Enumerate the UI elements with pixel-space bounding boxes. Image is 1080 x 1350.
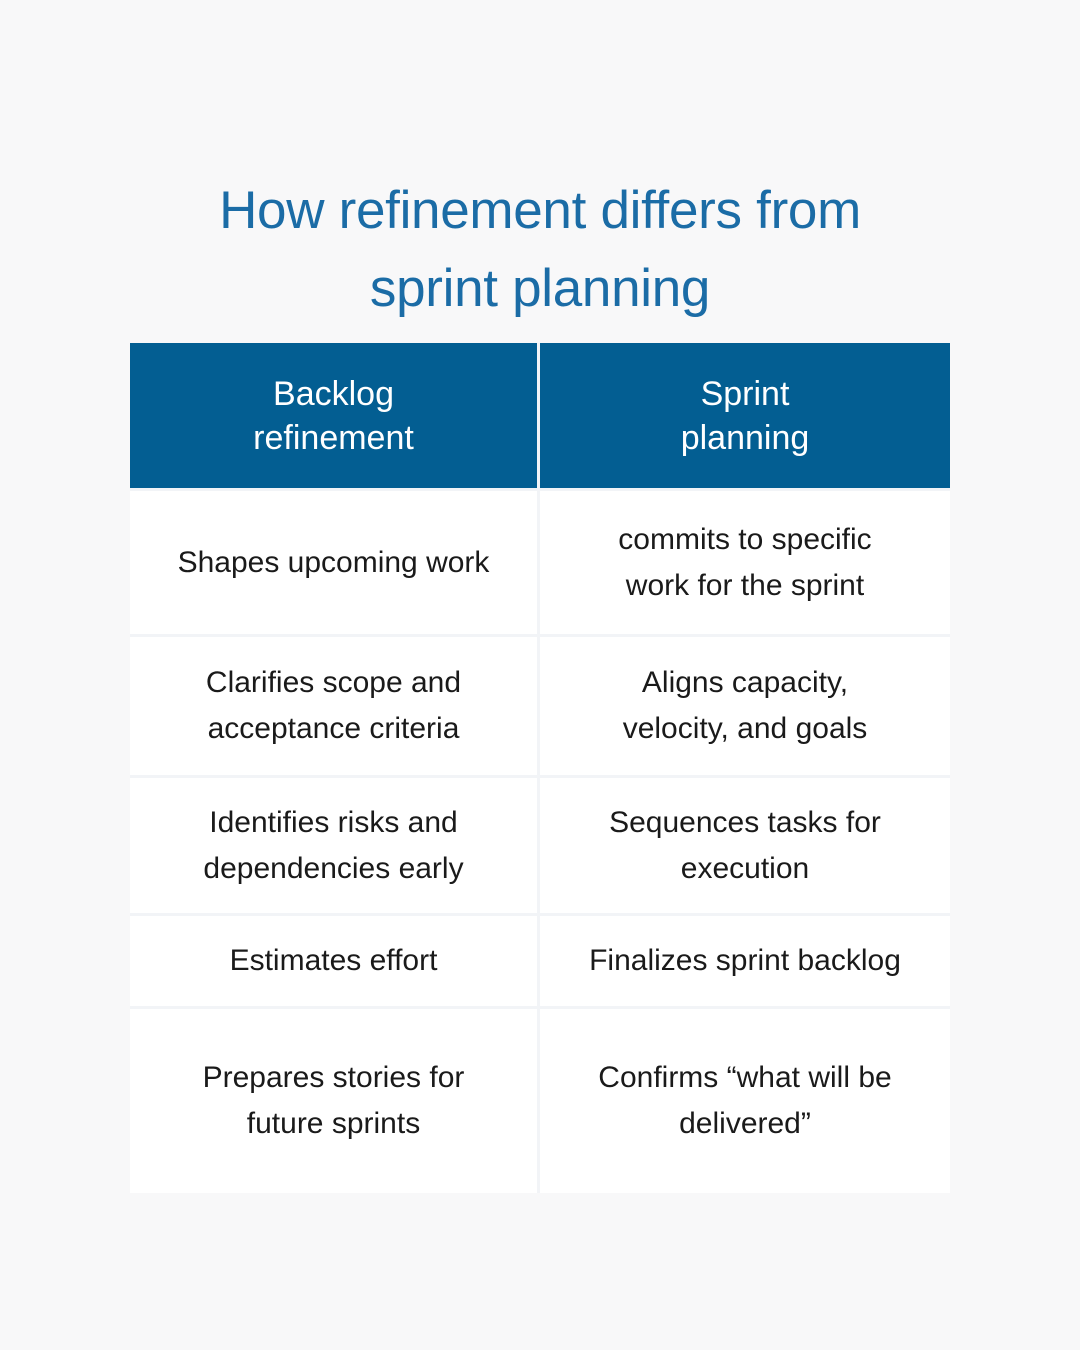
cell-backlog-refinement: Estimates effort xyxy=(130,913,540,1006)
cell-sprint-planning: Sequences tasks for execution xyxy=(540,775,950,913)
infographic-page: How refinement differs from sprint plann… xyxy=(0,0,1080,1350)
cell-sprint-planning: Confirms “what will be delivered” xyxy=(540,1006,950,1193)
comparison-table: Backlog refinement Sprint planning Shape… xyxy=(130,343,950,1193)
cell-backlog-refinement: Clarifies scope and acceptance criteria xyxy=(130,634,540,775)
table-row: Clarifies scope and acceptance criteria … xyxy=(130,634,950,775)
table-row: Prepares stories for future sprints Conf… xyxy=(130,1006,950,1193)
table-row: Identifies risks and dependencies early … xyxy=(130,775,950,913)
table-header: Backlog refinement Sprint planning xyxy=(130,343,950,488)
column-header-backlog-refinement: Backlog refinement xyxy=(130,343,540,488)
table-header-row: Backlog refinement Sprint planning xyxy=(130,343,950,488)
cell-backlog-refinement: Identifies risks and dependencies early xyxy=(130,775,540,913)
cell-sprint-planning: commits to specific work for the sprint xyxy=(540,488,950,634)
page-title: How refinement differs from sprint plann… xyxy=(140,172,940,328)
cell-sprint-planning: Aligns capacity, velocity, and goals xyxy=(540,634,950,775)
cell-backlog-refinement: Shapes upcoming work xyxy=(130,488,540,634)
table-body: Shapes upcoming work commits to specific… xyxy=(130,488,950,1193)
column-header-sprint-planning: Sprint planning xyxy=(540,343,950,488)
cell-backlog-refinement: Prepares stories for future sprints xyxy=(130,1006,540,1193)
table-row: Estimates effort Finalizes sprint backlo… xyxy=(130,913,950,1006)
table-row: Shapes upcoming work commits to specific… xyxy=(130,488,950,634)
cell-sprint-planning: Finalizes sprint backlog xyxy=(540,913,950,1006)
